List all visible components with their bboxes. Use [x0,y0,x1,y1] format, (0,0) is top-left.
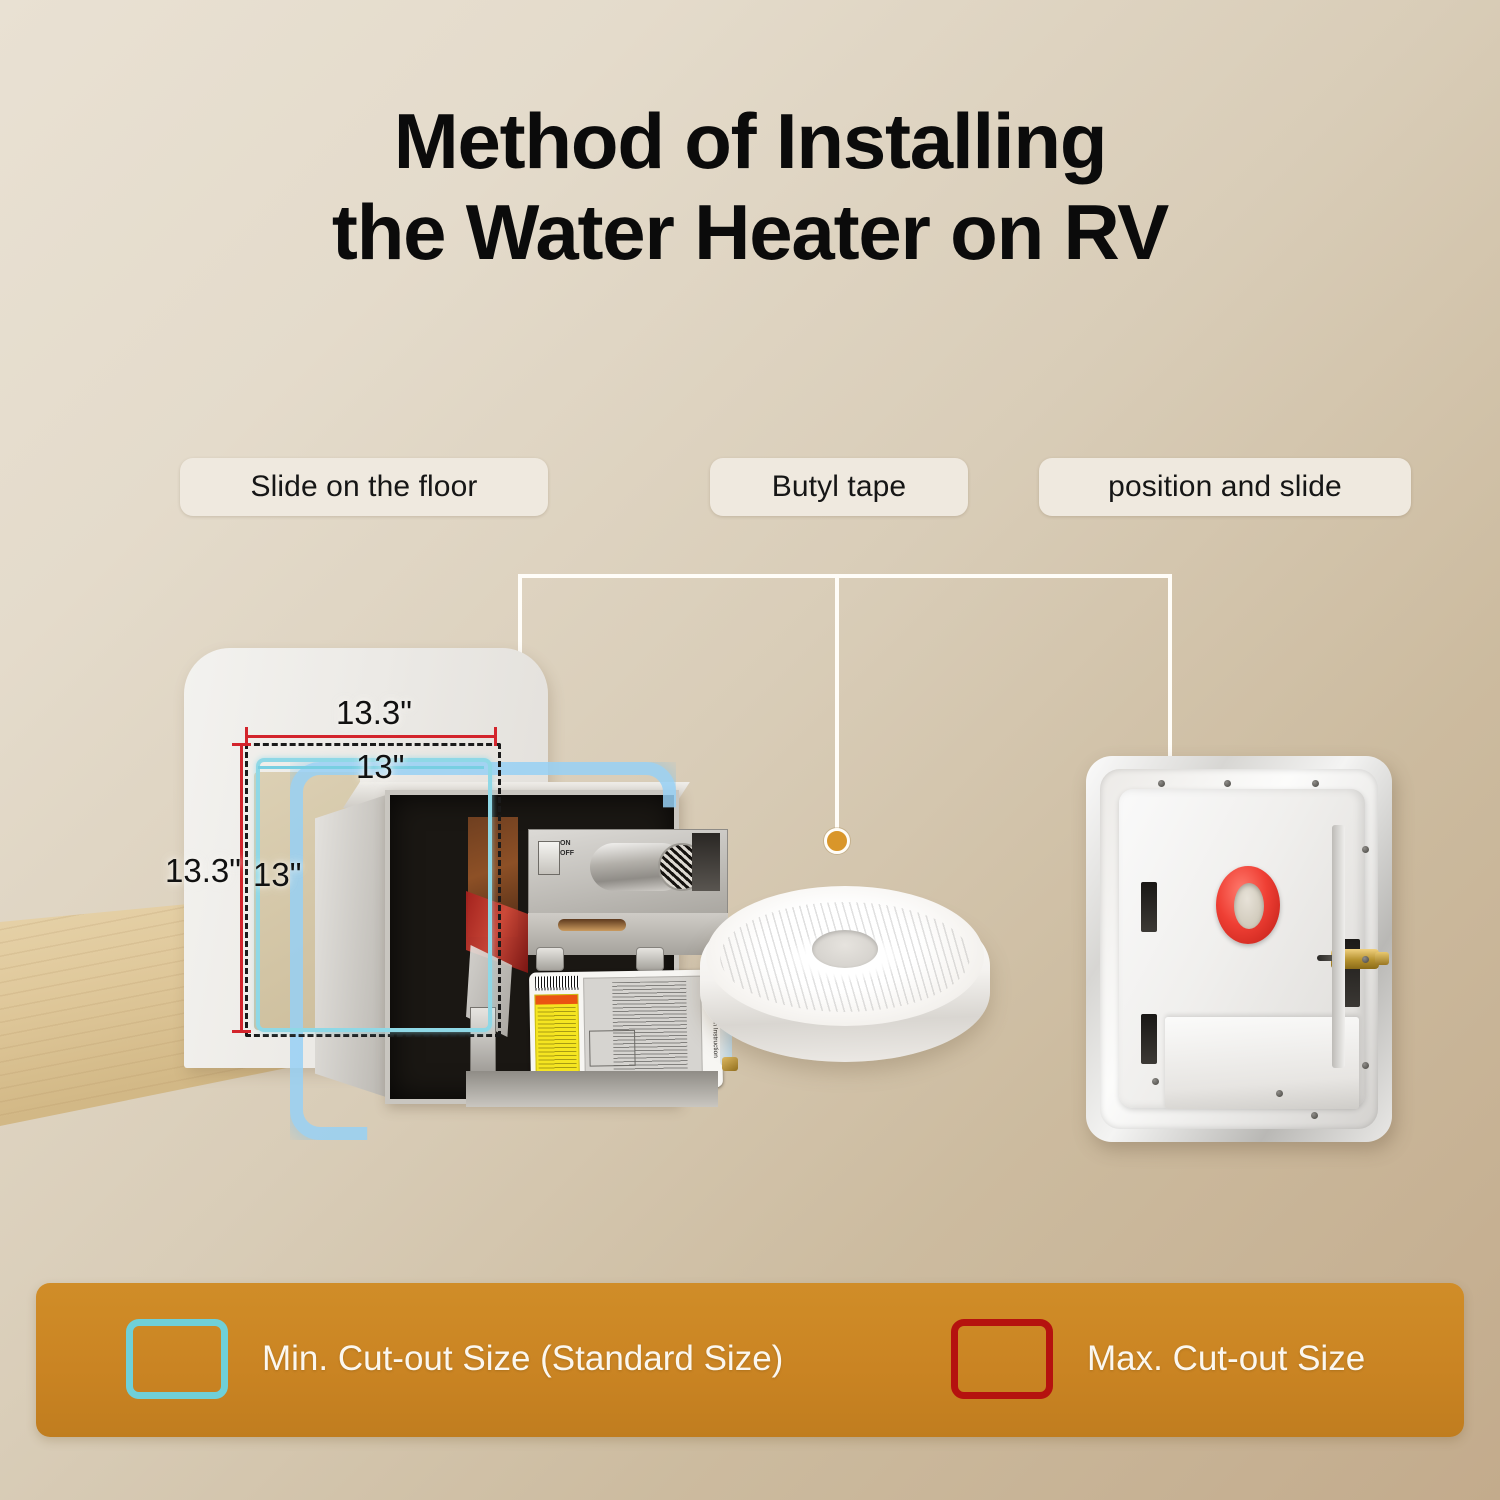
max-width-dimension-line [245,735,497,738]
connector-horizontal-line [518,574,1172,578]
door-screw [1362,956,1369,963]
legend-swatch-max [951,1319,1053,1399]
tape-roll-core-hole [812,930,878,968]
butyl-tape-roll [700,880,990,1080]
door-latch-tip [1375,952,1389,965]
door-lower-shelf [1165,1017,1359,1109]
wiring-diagram [589,1030,636,1067]
switch-label-off: OFF [560,849,590,859]
warning-label-header [535,995,577,1005]
connector-line-to-butyl-tape [835,574,839,842]
legend-swatch-min [126,1319,228,1399]
door-hinge [1141,882,1157,932]
door-right-edge [1332,825,1345,1068]
door-screw [1312,780,1319,787]
callout-label-butyl-tape: Butyl tape [710,458,968,516]
door-screw [1362,1062,1369,1069]
dimension-label-min-height: 13" [253,856,301,894]
legend-label-min: Min. Cut-out Size (Standard Size) [262,1339,783,1379]
door-screw [1152,1078,1159,1085]
page-title-line-2: the Water Heater on RV [0,187,1500,278]
min-cutout-rectangle [256,758,492,1032]
heater-base-tray [466,1071,718,1107]
callout-text: Slide on the floor [251,470,478,504]
legend-item-min-cutout: Min. Cut-out Size (Standard Size) [126,1319,783,1399]
instruction-panel [583,976,703,1084]
heater-power-switch[interactable] [538,841,560,875]
page-title: Method of Installing the Water Heater on… [0,96,1500,279]
callout-text: position and slide [1108,470,1342,504]
legend-item-max-cutout: Max. Cut-out Size [951,1319,1365,1399]
dimension-label-max-width: 13.3" [336,694,412,732]
heater-clamp [636,947,664,971]
page-title-line-1: Method of Installing [0,96,1500,187]
door-screw [1224,780,1231,787]
heater-sight-slot [558,919,626,931]
door-screw [1276,1090,1283,1097]
heater-switch-labels: ON OFF [560,839,590,879]
callout-label-position-and-slide: position and slide [1039,458,1411,516]
rv-access-door [1086,756,1392,1142]
door-panel [1119,789,1365,1108]
switch-label-on: ON [560,839,590,849]
barcode-icon [535,976,579,991]
legend-bar: Min. Cut-out Size (Standard Size) Max. C… [36,1283,1464,1437]
door-vent-ring [1216,866,1280,944]
connector-line-to-access-door [1168,574,1172,780]
heater-clamp [536,947,564,971]
door-vent-opening [1234,883,1264,929]
callout-label-slide-on-the-floor: Slide on the floor [180,458,548,516]
callout-text: Butyl tape [772,470,906,504]
door-screw [1158,780,1165,787]
legend-label-max: Max. Cut-out Size [1087,1339,1365,1379]
dimension-label-min-width: 13" [356,748,404,786]
door-hinge [1141,1014,1157,1064]
connector-dot-butyl-tape [824,828,850,854]
infographic-canvas: Method of Installing the Water Heater on… [0,0,1500,1500]
door-screw [1311,1112,1318,1119]
door-screw [1362,846,1369,853]
dimension-label-max-height: 13.3" [165,852,241,890]
